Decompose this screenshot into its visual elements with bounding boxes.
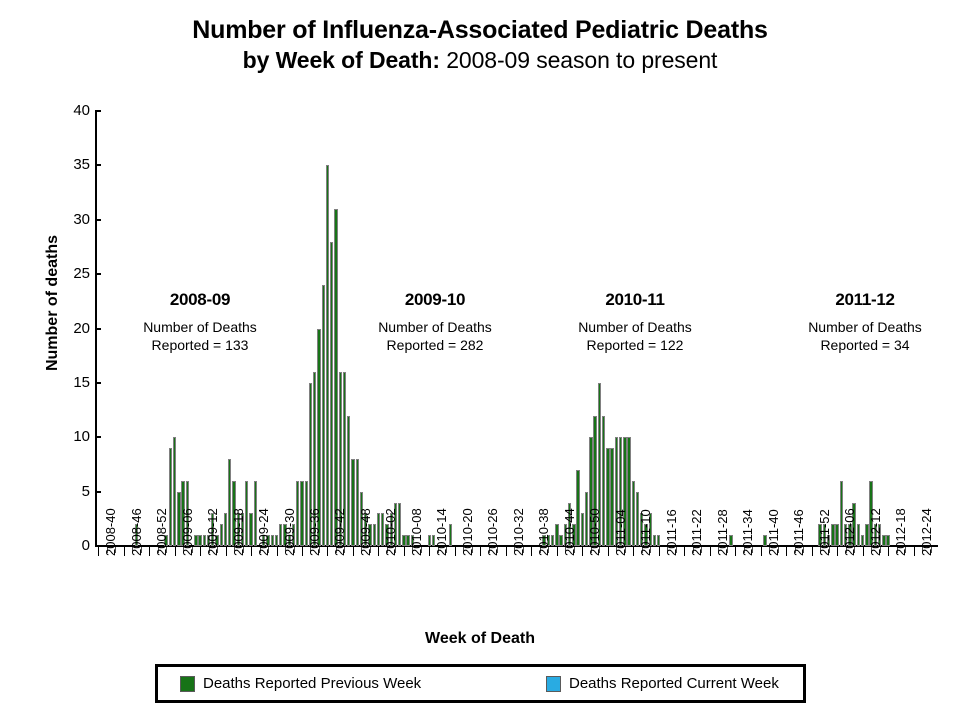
x-tick-mark bbox=[914, 547, 915, 556]
x-tick-label: 2009-18 bbox=[231, 508, 246, 556]
bar-previous-week bbox=[198, 535, 201, 546]
x-tick-mark bbox=[761, 547, 762, 556]
bar-previous-week bbox=[300, 481, 303, 546]
bar-previous-week bbox=[334, 209, 337, 546]
bar-previous-week bbox=[220, 524, 223, 546]
x-tick-mark bbox=[710, 547, 711, 556]
title-line-1: Number of Influenza-Associated Pediatric… bbox=[0, 14, 960, 46]
bar-previous-week bbox=[653, 535, 656, 546]
bar-previous-week bbox=[373, 524, 376, 546]
x-tick-label: 2009-30 bbox=[282, 508, 297, 556]
bar-previous-week bbox=[398, 503, 401, 547]
x-tick-mark bbox=[837, 547, 838, 556]
legend-swatch-current bbox=[546, 676, 561, 692]
x-tick-mark bbox=[378, 547, 379, 556]
chart-legend: Deaths Reported Previous WeekDeaths Repo… bbox=[155, 664, 806, 703]
legend-item-current[interactable]: Deaths Reported Current Week bbox=[546, 675, 779, 692]
x-tick-label: 2011-40 bbox=[766, 509, 781, 556]
title-line-2-rest: 2008-09 season to present bbox=[440, 47, 717, 73]
page-title: Number of Influenza-Associated Pediatric… bbox=[0, 14, 960, 75]
bar-previous-week bbox=[351, 459, 354, 546]
x-tick-label: 2011-04 bbox=[613, 509, 628, 556]
x-tick-mark bbox=[633, 547, 634, 556]
x-axis-title: Week of Death bbox=[0, 630, 960, 648]
x-tick-mark bbox=[608, 547, 609, 556]
x-tick-mark bbox=[455, 547, 456, 556]
season-label: 2009-10 bbox=[335, 290, 535, 310]
y-tick-mark bbox=[95, 382, 101, 384]
x-tick-label: 2009-42 bbox=[332, 508, 347, 556]
bar-previous-week bbox=[602, 416, 605, 547]
x-tick-label: 2011-16 bbox=[664, 509, 679, 556]
x-tick-label: 2008-40 bbox=[103, 508, 118, 556]
x-tick-mark bbox=[888, 547, 889, 556]
y-tick-mark bbox=[95, 545, 101, 547]
x-tick-label: 2008-52 bbox=[154, 508, 169, 556]
bar-previous-week bbox=[326, 165, 329, 546]
y-tick-mark bbox=[95, 219, 101, 221]
bar-previous-week bbox=[551, 535, 554, 546]
legend-label-previous: Deaths Reported Previous Week bbox=[203, 675, 421, 692]
bar-previous-week bbox=[249, 513, 252, 546]
x-tick-label: 2009-24 bbox=[256, 508, 271, 556]
y-tick-mark bbox=[95, 328, 101, 330]
x-tick-label: 2011-52 bbox=[817, 509, 832, 556]
bar-previous-week bbox=[275, 535, 278, 546]
season-annotation-2008-09: 2008-09Number of DeathsReported = 133 bbox=[100, 290, 300, 354]
x-tick-label: 2009-12 bbox=[205, 508, 220, 556]
x-tick-mark bbox=[480, 547, 481, 556]
bar-previous-week bbox=[428, 535, 431, 546]
x-tick-label: 2011-22 bbox=[689, 509, 704, 556]
x-axis-tick-labels: 2008-402008-462008-522009-062009-122009-… bbox=[0, 556, 960, 626]
bar-previous-week bbox=[886, 535, 889, 546]
x-tick-mark bbox=[175, 547, 176, 556]
x-tick-mark bbox=[863, 547, 864, 556]
bar-previous-week bbox=[632, 481, 635, 546]
x-tick-label: 2012-18 bbox=[893, 508, 908, 556]
x-tick-mark bbox=[684, 547, 685, 556]
bar-previous-week bbox=[449, 524, 452, 546]
x-axis-ticks bbox=[0, 547, 960, 555]
season-total-line-1: Number of Deaths bbox=[335, 319, 535, 337]
season-total-line-2: Reported = 133 bbox=[100, 337, 300, 355]
x-tick-mark bbox=[353, 547, 354, 556]
x-tick-mark bbox=[659, 547, 660, 556]
x-tick-mark bbox=[327, 547, 328, 556]
x-tick-label: 2010-20 bbox=[460, 508, 475, 556]
x-tick-mark bbox=[124, 547, 125, 556]
x-tick-mark bbox=[429, 547, 430, 556]
y-tick-label: 5 bbox=[56, 483, 90, 500]
y-tick-mark bbox=[95, 110, 101, 112]
x-tick-mark bbox=[98, 547, 99, 556]
legend-swatch-previous bbox=[180, 676, 195, 692]
season-label: 2008-09 bbox=[100, 290, 300, 310]
legend-item-previous[interactable]: Deaths Reported Previous Week bbox=[180, 675, 421, 692]
x-tick-label: 2011-28 bbox=[715, 509, 730, 556]
y-tick-mark bbox=[95, 436, 101, 438]
bar-previous-week bbox=[606, 448, 609, 546]
x-tick-label: 2009-48 bbox=[358, 508, 373, 556]
x-tick-mark bbox=[786, 547, 787, 556]
bar-previous-week bbox=[402, 535, 405, 546]
season-total-line-2: Reported = 122 bbox=[535, 337, 735, 355]
x-tick-label: 2011-34 bbox=[740, 509, 755, 556]
bar-previous-week bbox=[173, 437, 176, 546]
x-tick-label: 2010-14 bbox=[434, 508, 449, 556]
season-total-line-1: Number of Deaths bbox=[100, 319, 300, 337]
legend-label-current: Deaths Reported Current Week bbox=[569, 675, 779, 692]
bar-previous-week bbox=[861, 535, 864, 546]
title-line-2: by Week of Death: 2008-09 season to pres… bbox=[0, 46, 960, 75]
x-tick-mark bbox=[277, 547, 278, 556]
bar-previous-week bbox=[857, 524, 860, 546]
x-tick-label: 2012-24 bbox=[919, 508, 934, 556]
season-annotation-2011-12: 2011-12Number of DeathsReported = 34 bbox=[765, 290, 960, 354]
y-tick-mark bbox=[95, 491, 101, 493]
y-tick-label: 10 bbox=[56, 428, 90, 445]
season-total-line-2: Reported = 282 bbox=[335, 337, 535, 355]
title-line-2-bold: by Week of Death: bbox=[243, 47, 440, 73]
x-tick-label: 2010-02 bbox=[383, 508, 398, 556]
x-tick-label: 2010-26 bbox=[485, 508, 500, 556]
bar-previous-week bbox=[835, 524, 838, 546]
season-annotation-2010-11: 2010-11Number of DeathsReported = 122 bbox=[535, 290, 735, 354]
x-tick-mark bbox=[149, 547, 150, 556]
x-tick-mark bbox=[506, 547, 507, 556]
y-tick-mark bbox=[95, 164, 101, 166]
x-tick-label: 2010-38 bbox=[536, 508, 551, 556]
x-tick-label: 2010-08 bbox=[409, 508, 424, 556]
season-total-line-2: Reported = 34 bbox=[765, 337, 960, 355]
x-tick-label: 2012-12 bbox=[868, 508, 883, 556]
x-tick-mark bbox=[531, 547, 532, 556]
x-tick-label: 2009-06 bbox=[180, 508, 195, 556]
bar-previous-week bbox=[271, 535, 274, 546]
y-axis-title: Number of deaths bbox=[44, 223, 62, 383]
x-tick-mark bbox=[302, 547, 303, 556]
x-tick-mark bbox=[582, 547, 583, 556]
bar-previous-week bbox=[555, 524, 558, 546]
season-total-line-1: Number of Deaths bbox=[535, 319, 735, 337]
x-tick-label: 2010-44 bbox=[562, 508, 577, 556]
season-annotation-2009-10: 2009-10Number of DeathsReported = 282 bbox=[335, 290, 535, 354]
x-tick-mark bbox=[557, 547, 558, 556]
x-tick-mark bbox=[735, 547, 736, 556]
bar-previous-week bbox=[581, 513, 584, 546]
bar-previous-week bbox=[377, 513, 380, 546]
y-tick-mark bbox=[95, 273, 101, 275]
x-tick-mark bbox=[226, 547, 227, 556]
y-tick-label: 40 bbox=[56, 102, 90, 119]
x-tick-mark bbox=[251, 547, 252, 556]
season-total-line-1: Number of Deaths bbox=[765, 319, 960, 337]
season-label: 2011-12 bbox=[765, 290, 960, 310]
bar-previous-week bbox=[347, 416, 350, 547]
bar-previous-week bbox=[224, 513, 227, 546]
bar-previous-week bbox=[657, 535, 660, 546]
bar-previous-week bbox=[322, 285, 325, 546]
season-label: 2010-11 bbox=[535, 290, 735, 310]
x-tick-label: 2009-36 bbox=[307, 508, 322, 556]
x-tick-mark bbox=[200, 547, 201, 556]
bar-previous-week bbox=[169, 448, 172, 546]
x-tick-mark bbox=[812, 547, 813, 556]
y-tick-label: 35 bbox=[56, 156, 90, 173]
x-tick-label: 2011-10 bbox=[638, 509, 653, 556]
x-tick-label: 2010-50 bbox=[587, 508, 602, 556]
x-tick-mark bbox=[404, 547, 405, 556]
x-tick-label: 2010-32 bbox=[511, 508, 526, 556]
x-tick-label: 2011-46 bbox=[791, 509, 806, 556]
x-tick-label: 2008-46 bbox=[129, 508, 144, 556]
bar-previous-week bbox=[330, 242, 333, 547]
x-tick-label: 2012-06 bbox=[842, 508, 857, 556]
